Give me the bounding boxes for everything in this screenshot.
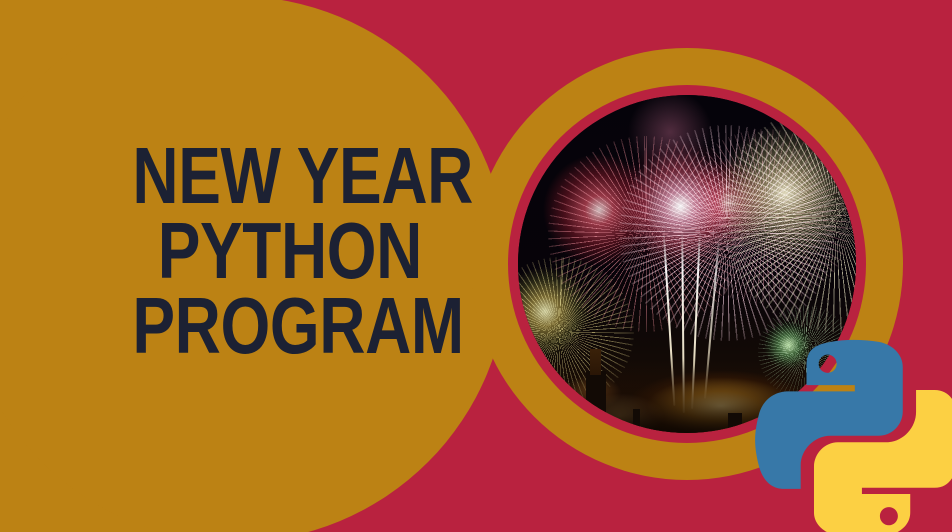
- skyline-building: [633, 409, 640, 433]
- python-logo-icon: [752, 332, 952, 532]
- headline-line-1: NEW YEAR: [132, 138, 422, 213]
- headline-line-3: PROGRAM: [132, 288, 422, 363]
- page-title: NEW YEAR PYTHON PROGRAM: [60, 138, 422, 364]
- skyline-tower: [586, 371, 606, 433]
- skyline-building: [728, 413, 742, 433]
- headline-line-2: PYTHON: [132, 213, 422, 288]
- poster-canvas: NEW YEAR PYTHON PROGRAM: [0, 0, 952, 532]
- skyline-building: [572, 399, 581, 433]
